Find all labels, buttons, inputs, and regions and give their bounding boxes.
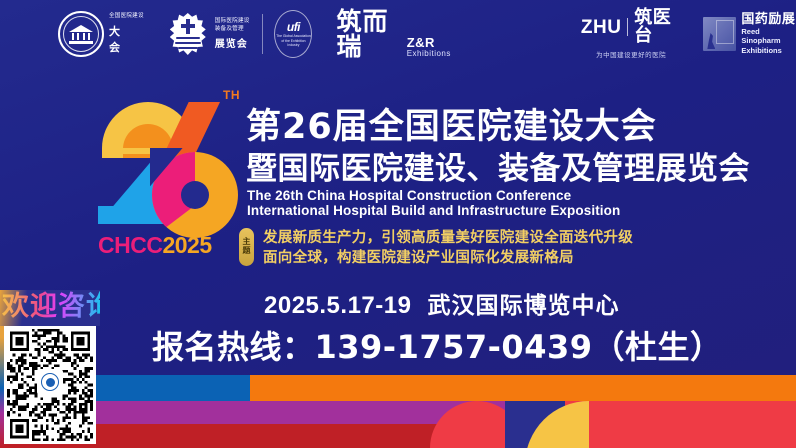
chcc-26-logo: TH CHCC2025 [96, 86, 246, 266]
conference-emblem-line1: 全国医院建设 [109, 13, 144, 21]
chcc-wordmark-letters: CHCC [98, 232, 162, 258]
bottom-color-bands [0, 364, 796, 448]
zr-english-sub: Exhibitions [407, 49, 451, 59]
sponsor-chcc-conference: 全国医院建设 大 会 [58, 11, 144, 57]
sponsor-reed-sinopharm: 国药励展 Reed Sinopharm Exhibitions [703, 13, 796, 55]
qr-center-emblem-icon [37, 369, 63, 395]
exhibition-line2: 装备及管理 [215, 26, 250, 34]
chcc-wordmark: CHCC2025 [98, 232, 212, 259]
sinopharm-artwork-icon [703, 17, 736, 51]
numeral-6 [152, 152, 238, 238]
snowflake-cross-icon [166, 11, 210, 57]
registration-hotline[interactable]: 报名热线：139-1757-0439（杜生） [152, 322, 723, 368]
zr-english-mark: Z&R [407, 36, 451, 49]
zhuyitai-english: ZHU [581, 18, 622, 37]
zhuyitai-chinese: 筑医台 [634, 9, 681, 45]
sponsor-zhuyitai: ZHU 筑医台 为中国建设更好的医院 [581, 9, 681, 59]
event-date-venue: 2025.5.17-19 武汉国际博览中心 [264, 286, 619, 320]
conference-emblem-icon [58, 11, 104, 57]
zr-chinese-name: 筑而瑞 [336, 9, 404, 59]
ufi-subline1: The Global Association [276, 34, 311, 38]
event-date: 2025.5.17-19 [264, 292, 411, 320]
sponsor-zhu-er-rui: 筑而瑞 Z&R Exhibitions [336, 9, 450, 59]
qr-contact-block: 欢迎咨询 [0, 290, 100, 448]
ufi-subline2: of the Exhibition Industry [275, 39, 311, 48]
zhuyitai-divider [627, 18, 628, 36]
ufi-logo: ufi The Global Association of the Exhibi… [274, 10, 312, 58]
conference-emblem-line2: 大 会 [109, 23, 144, 55]
headline-english-line1: The 26th China Hospital Construction Con… [247, 188, 571, 203]
exhibition-line3: 展览会 [215, 35, 250, 50]
logo-divider [262, 14, 263, 54]
theme-badge: 主 题 [239, 228, 254, 266]
ordinal-suffix: TH [223, 88, 240, 102]
welcome-text: 欢迎咨询 [2, 290, 100, 324]
event-venue: 武汉国际博览中心 [427, 286, 619, 320]
chcc-wordmark-year: 2025 [162, 232, 211, 258]
conference-poster: 全国医院建设 大 会 国际医院建设 装备及管理 展览会 ufi The Glob… [0, 0, 796, 448]
zhuyitai-slogan: 为中国建设更好的医院 [596, 49, 666, 59]
sinopharm-english1: Reed Sinopharm [741, 27, 796, 46]
headline-english-line2: International Hospital Build and Infrast… [247, 203, 620, 218]
sponsor-exhibition: 国际医院建设 装备及管理 展览会 [166, 11, 250, 57]
theme-line-1: 发展新质生产力，引领高质量美好医院建设全面迭代升级 [263, 228, 633, 248]
ufi-wordmark: ufi [287, 21, 300, 33]
headline-chinese-line1: 第26届全国医院建设大会 [246, 98, 657, 149]
theme-line-2: 面向全球，构建医院建设产业国际化发展新格局 [263, 248, 633, 268]
exhibition-line1: 国际医院建设 [215, 18, 250, 26]
sinopharm-chinese: 国药励展 [741, 13, 796, 27]
headline-chinese-line2: 暨国际医院建设、装备及管理展览会 [246, 143, 750, 188]
sponsor-logo-bar: 全国医院建设 大 会 国际医院建设 装备及管理 展览会 ufi The Glob… [0, 0, 796, 68]
theme-block: 主 题 发展新质生产力，引领高质量美好医院建设全面迭代升级 面向全球，构建医院建… [239, 228, 633, 268]
theme-badge-char-2: 题 [243, 247, 251, 256]
sinopharm-english2: Exhibitions [741, 46, 796, 55]
band-red-overlay [565, 401, 796, 448]
